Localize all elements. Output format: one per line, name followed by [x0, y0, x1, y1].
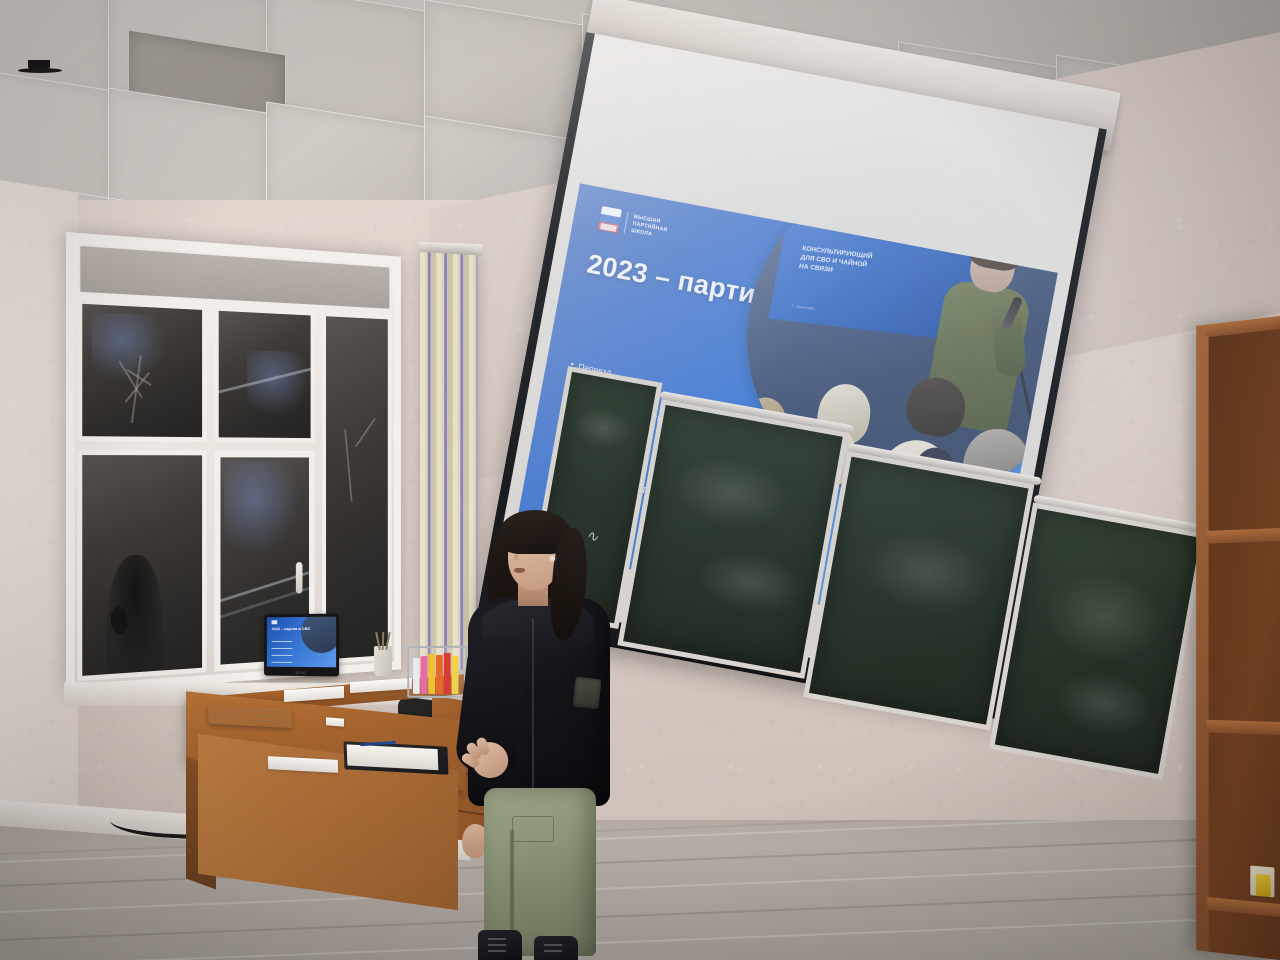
monitor-slide-logo-icon [272, 620, 278, 624]
presenter-reflection [107, 554, 163, 679]
presenter-boot-left [478, 930, 522, 960]
shelf-board-1 [1207, 528, 1280, 544]
monitor-slide-title: 2023 – партия и СВО [272, 626, 311, 631]
window-pane-top-mid [215, 306, 315, 443]
shelf-board-2 [1207, 720, 1280, 735]
folder-item[interactable] [436, 655, 443, 694]
window [66, 232, 401, 694]
shelf-yellow-item [1256, 874, 1271, 897]
inset-footer: Г. Ульяновск [791, 303, 815, 311]
earring-icon [550, 556, 555, 561]
presenter [456, 506, 632, 960]
inset-caption: КОНСУЛЬТИРУЮЩИЙ ДЛЯ СВО И ЧАЙНОЙ НА СВЯЗ… [798, 244, 929, 285]
classroom-photo: ВЫСШАЯ ПАРТИЙНАЯ ШКОЛА 2023 – партия и С… [0, 0, 1280, 960]
clipboard[interactable] [344, 741, 449, 775]
russian-flag-icon [598, 206, 622, 233]
monitor-base [18, 68, 62, 73]
trouser-cargo-pocket [512, 816, 554, 842]
vps-logo: ВЫСШАЯ ПАРТИЙНАЯ ШКОЛА [598, 206, 670, 242]
window-handle[interactable] [296, 562, 303, 594]
desktop-monitor[interactable]: 2023 – партия и СВО BENQ [264, 614, 339, 677]
window-pane-top-left [77, 299, 206, 442]
sleeve-patch-icon [573, 677, 602, 710]
window-pane-right [322, 311, 392, 664]
pen-holder [374, 646, 392, 676]
window-pane-bottom-left [77, 450, 206, 682]
bookshelf [1196, 316, 1280, 960]
presenter-boot-right [534, 936, 578, 960]
monitor-screen: 2023 – партия и СВО [267, 617, 336, 668]
folder-item[interactable] [444, 653, 451, 694]
folder-item[interactable] [428, 654, 435, 694]
folder-item[interactable] [421, 656, 428, 694]
eraser [326, 717, 344, 727]
inset-logo-icon [903, 203, 926, 221]
folder-item[interactable] [413, 658, 420, 694]
